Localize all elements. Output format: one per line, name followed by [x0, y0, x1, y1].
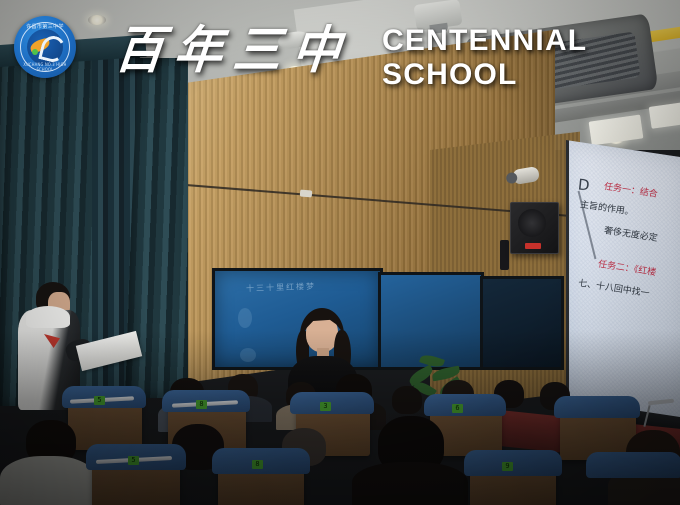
- seat-cushion: [290, 392, 374, 414]
- front-display-graphic: [238, 308, 252, 328]
- wall-speaker: [510, 202, 559, 254]
- school-banner: 许昌市第三中学 XUCHANG NO.3 HIGH SCHOOL 百年三中 CE…: [0, 0, 680, 90]
- seat-cushion: [586, 452, 680, 478]
- student-shoulders: [0, 456, 96, 505]
- banner-title-chinese: 百年三中: [112, 8, 356, 82]
- seat-number-tag: 5: [128, 456, 139, 465]
- seat-number-tag: 6: [452, 404, 463, 413]
- school-logo-icon: 许昌市第三中学 XUCHANG NO.3 HIGH SCHOOL: [14, 16, 76, 78]
- speaker-brand-mark: [525, 243, 541, 249]
- front-display-graphic: [240, 348, 256, 362]
- seat-number-tag: 9: [502, 462, 513, 471]
- logo-ring-text-en: XUCHANG NO.3 HIGH SCHOOL: [17, 62, 73, 72]
- logo-emblem-mark: [30, 36, 60, 58]
- front-dark-panel: [480, 276, 564, 370]
- seat-cushion: [554, 396, 640, 418]
- speaker-bracket: [500, 240, 509, 270]
- student-head: [392, 386, 422, 414]
- seat-cushion: [424, 394, 506, 416]
- banner-title-english: CENTENNIAL SCHOOL: [382, 24, 680, 92]
- seat-number-tag: 3: [320, 402, 331, 411]
- logo-mark-dot: [32, 49, 38, 55]
- student-hood: [26, 306, 70, 328]
- cable-clip: [300, 190, 313, 198]
- seat-number-tag: 8: [252, 460, 263, 469]
- ceiling-panel-light: [649, 101, 680, 129]
- seat-number-tag: 8: [196, 400, 207, 409]
- seat-cushion: [464, 450, 562, 476]
- screenshot-photo: 十三十里红楼梦 Ⅾ 任务一：结合 主旨的作用。 奢侈无度必定 任务二：《红楼 七…: [0, 0, 680, 505]
- student-shoulders: [352, 462, 468, 505]
- seat-number-tag: 5: [94, 396, 105, 405]
